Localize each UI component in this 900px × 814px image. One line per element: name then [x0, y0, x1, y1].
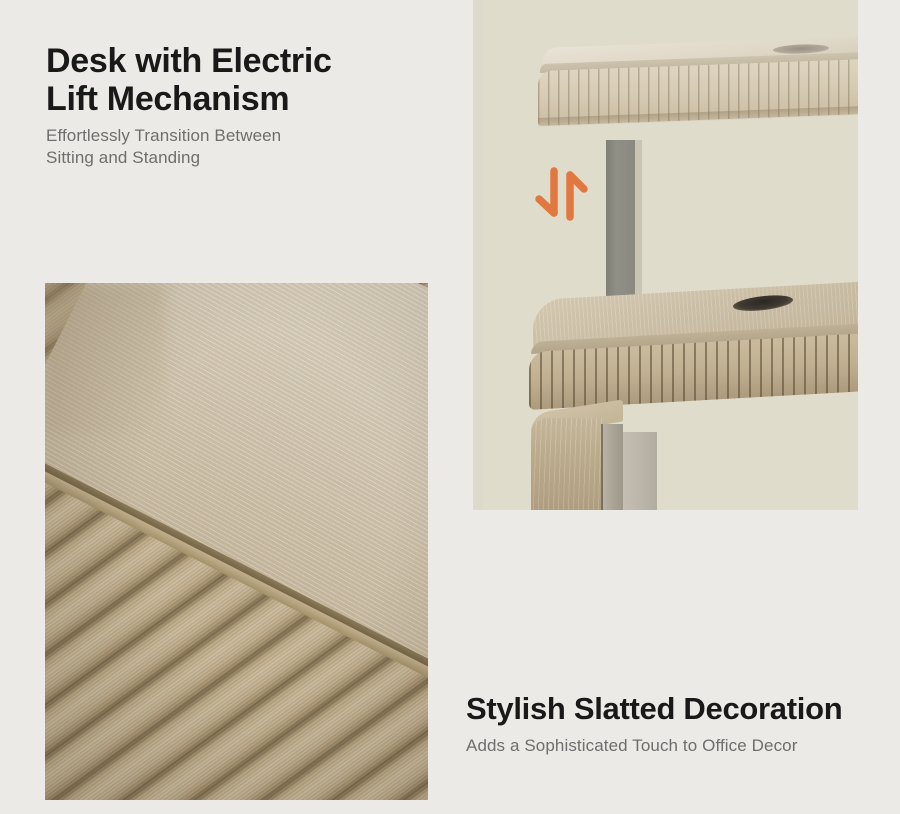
desk-render-image — [473, 0, 858, 510]
page-subtitle: Effortlessly Transition Between Sitting … — [46, 125, 446, 169]
marketing-page: Desk with Electric Lift Mechanism Effort… — [0, 0, 900, 814]
page-title: Desk with Electric Lift Mechanism — [46, 42, 446, 118]
pedestal-grain — [531, 418, 603, 510]
pedestal-wood-leg — [531, 418, 603, 510]
slat-macro-image — [45, 283, 428, 800]
cable-grommet-hole-icon — [733, 293, 793, 313]
electric-lift-column — [606, 140, 635, 320]
macro-vignette — [45, 283, 428, 800]
up-down-arrows-icon — [530, 163, 592, 225]
section-subtitle: Adds a Sophisticated Touch to Office Dec… — [466, 735, 896, 757]
pedestal-metal-column-side — [623, 432, 657, 510]
desk-raised-position — [518, 48, 858, 146]
top-text-block: Desk with Electric Lift Mechanism Effort… — [46, 42, 446, 169]
lift-column-edge — [635, 140, 642, 318]
section-title: Stylish Slatted Decoration — [466, 692, 896, 727]
panel-left-strip — [473, 0, 483, 510]
bottom-text-block: Stylish Slatted Decoration Adds a Sophis… — [466, 692, 896, 756]
pedestal-metal-column — [603, 424, 623, 510]
